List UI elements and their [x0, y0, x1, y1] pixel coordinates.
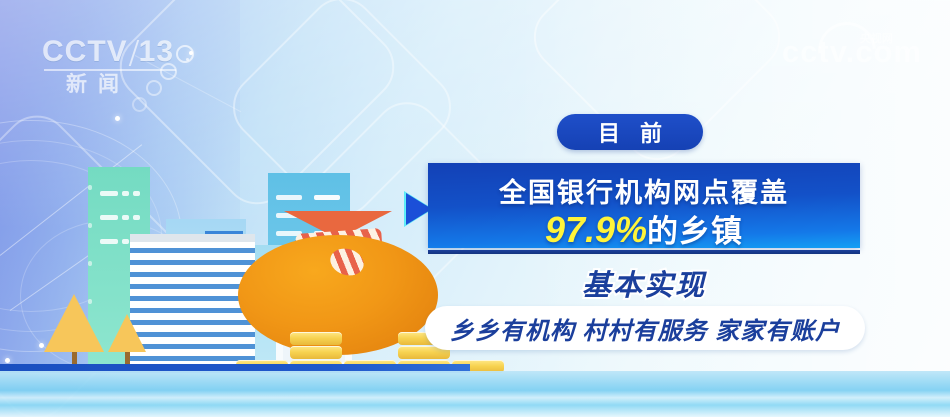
- headline-banner-underline: [428, 250, 860, 254]
- city-illustration: [0, 87, 470, 417]
- headline-line-2: 97.9%的乡镇: [428, 206, 860, 251]
- cctv-com-watermark: cctv.com 央视网: [782, 34, 922, 70]
- subheadline: 基本实现: [428, 262, 860, 304]
- tree-canopy-icon: [108, 314, 146, 352]
- cctv-logo-number: 13: [139, 35, 174, 68]
- building-edge-tick: [88, 261, 92, 266]
- logo-rule: [44, 69, 176, 71]
- headline-line-1: 全国银行机构网点覆盖: [428, 171, 860, 210]
- headline-percent-suffix: 的乡镇: [647, 214, 743, 249]
- building-roof-cap: [130, 234, 255, 242]
- building-window: [100, 191, 118, 196]
- building-edge-tick: [88, 185, 92, 190]
- headline-banner: 全国银行机构网点覆盖 97.9%的乡镇: [428, 163, 860, 248]
- building-window: [100, 239, 118, 244]
- building-window: [133, 215, 140, 220]
- coin: [290, 332, 342, 345]
- status-badge: 目 前: [557, 114, 703, 150]
- building-edge-tick: [88, 223, 92, 228]
- coin: [290, 346, 342, 359]
- building-striped-white: [130, 241, 255, 369]
- building-window: [100, 215, 118, 220]
- tree-canopy-icon: [44, 294, 104, 352]
- watermark-subtext: 央视网: [860, 30, 893, 46]
- water-band: [0, 371, 950, 417]
- building-window: [133, 191, 140, 196]
- tree-large: [44, 294, 104, 364]
- building-window: [276, 195, 302, 200]
- tree-small: [108, 314, 146, 364]
- tree-trunk: [125, 352, 130, 364]
- logo-slash-icon: [128, 40, 138, 66]
- building-window: [122, 215, 129, 220]
- status-badge-label: 目 前: [591, 116, 669, 148]
- headline-percent-value: 97.9%: [545, 209, 647, 250]
- slogan-pill: 乡乡有机构 村村有服务 家家有账户: [425, 306, 865, 350]
- broadcast-graphic: CCTV13 新闻 cctv.com 央视网: [0, 0, 950, 417]
- slogan-text: 乡乡有机构 村村有服务 家家有账户: [450, 311, 840, 346]
- building-window: [314, 195, 340, 200]
- building-window: [122, 239, 129, 244]
- tree-trunk: [72, 352, 77, 364]
- building-window: [122, 191, 129, 196]
- cctv-logo-text: CCTV: [42, 35, 128, 68]
